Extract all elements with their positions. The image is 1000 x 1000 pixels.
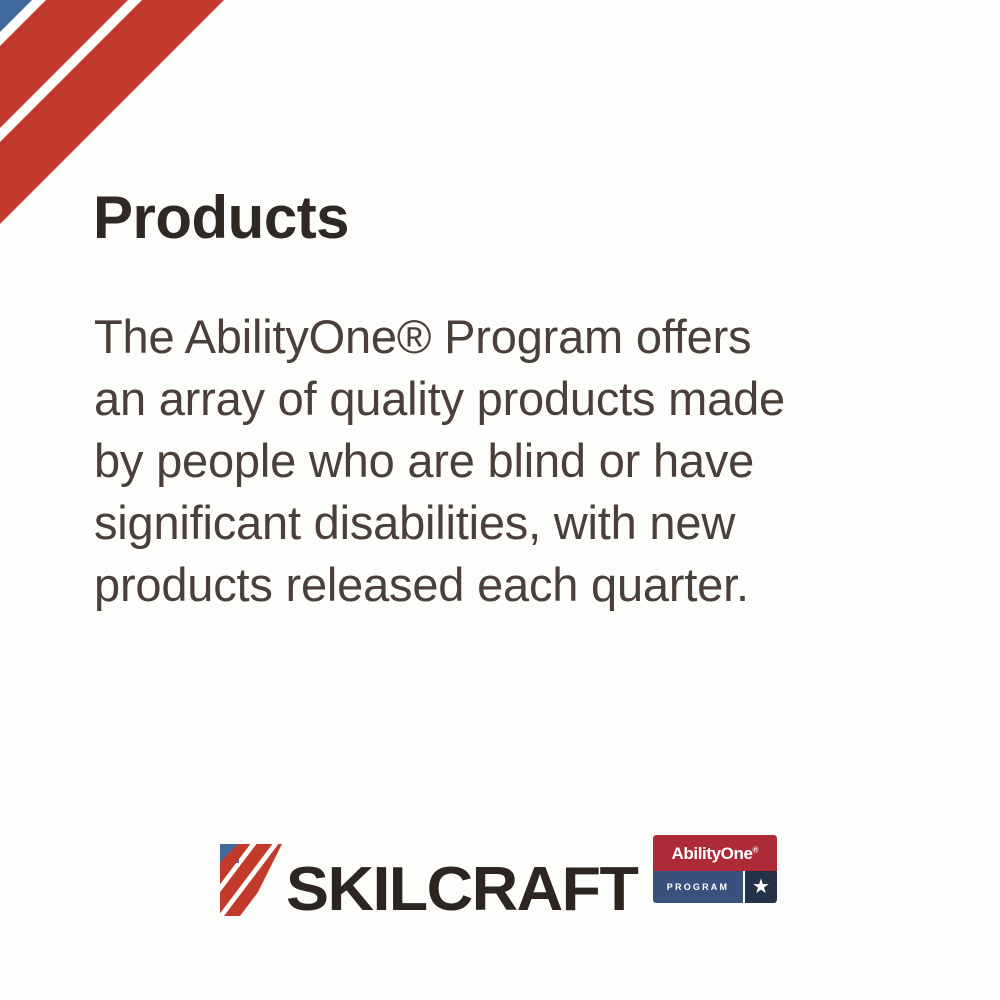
abilityone-program-cell: PROGRAM	[653, 871, 743, 903]
page-title: Products	[93, 186, 349, 249]
logo-row: SKILCRAFT AbilityOne® PROGRAM ★	[0, 818, 1000, 918]
body-line: The AbilityOne® Program offers	[94, 306, 884, 368]
abilityone-star-cell: ★	[743, 871, 777, 903]
abilityone-program-band: PROGRAM ★	[653, 871, 777, 903]
skilcraft-flag-mark-icon	[220, 844, 282, 916]
skilcraft-logo: SKILCRAFT	[220, 828, 624, 918]
body-line: significant disabilities, with new	[94, 492, 884, 554]
abilityone-brand-name: AbilityOne	[672, 844, 753, 863]
slide-canvas: Products The AbilityOne® Program offers …	[0, 0, 1000, 1000]
body-line: an array of quality products made	[94, 368, 884, 430]
body-line: products released each quarter.	[94, 554, 884, 616]
registered-trademark-icon: ®	[753, 845, 759, 854]
abilityone-brand-text: AbilityOne®	[672, 845, 759, 862]
star-icon: ★	[752, 877, 770, 897]
skilcraft-wordmark: SKILCRAFT	[286, 861, 637, 918]
abilityone-logo: AbilityOne® PROGRAM ★	[653, 835, 777, 903]
body-line: by people who are blind or have	[94, 430, 884, 492]
abilityone-brand-band: AbilityOne®	[653, 835, 777, 871]
abilityone-program-label: PROGRAM	[667, 883, 729, 892]
body-copy: The AbilityOne® Program offers an array …	[94, 306, 884, 616]
